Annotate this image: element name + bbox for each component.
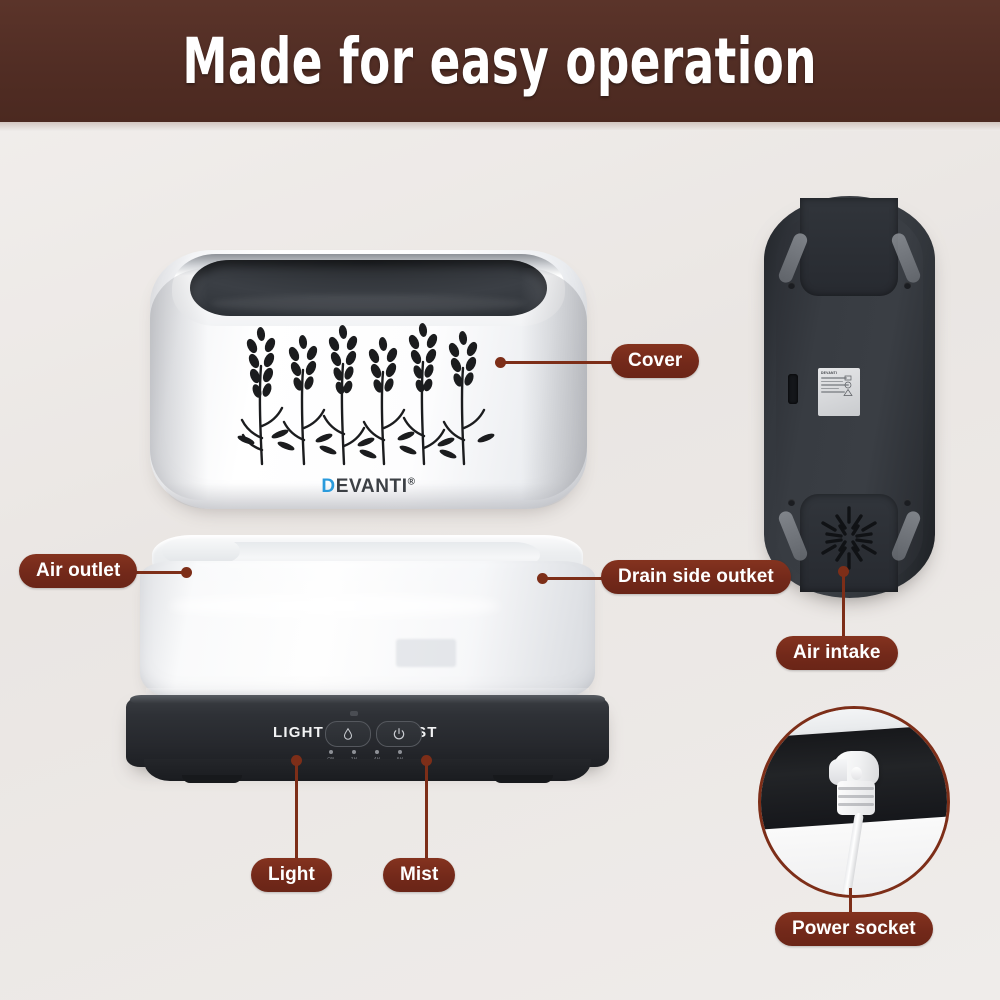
base-foot-right [493,775,553,783]
registered-trademark-icon: ® [408,477,416,488]
tank-air-outlet-notch [162,539,240,563]
callout-label-air-outlet[interactable]: Air outlet [19,554,137,588]
screw-hole-3 [788,499,795,506]
timer-led-6h [398,750,402,754]
callout-line-air-intake [842,571,845,637]
callout-label-cover[interactable]: Cover [611,344,699,378]
timer-led-on [329,750,333,754]
base-foot-left [182,775,242,783]
infographic-canvas: Made for easy operation [0,0,1000,1000]
rating-label-sticker: DEVANTI [818,368,860,416]
power-button[interactable] [376,721,422,747]
product-base: LIGHT MIST ON [126,695,609,783]
power-socket-inset [758,706,950,898]
cover-opening [190,260,547,316]
tank-internal-part [396,639,456,667]
timer-led-4h [375,750,379,754]
air-intake-vent-icon [813,502,885,574]
callout-label-light[interactable]: Light [251,858,332,892]
callout-line-light [295,760,298,860]
mist-button[interactable] [325,721,371,747]
bottom-recess-top [800,198,898,296]
sticker-text-line [821,388,839,390]
base-top-edge [130,695,605,704]
page-title: Made for easy operation [183,30,818,93]
drain-slot [788,374,798,404]
control-light-label: LIGHT [273,724,324,741]
tank-shell [140,561,595,699]
screw-hole-4 [904,499,911,506]
banner-divider [0,122,1000,131]
brand-logo: DEVANTI® [150,476,587,498]
power-icon [392,727,406,741]
plug-bump [851,767,862,780]
callout-label-power-socket[interactable]: Power socket [775,912,933,946]
plug-rib [838,787,874,790]
certification-marks-icon [843,374,857,396]
brand-logo-initial: D [321,476,335,497]
callout-line-cover [500,361,612,364]
callout-label-air-intake[interactable]: Air intake [776,636,898,670]
sticker-text-line [821,381,843,383]
base-shell: LIGHT MIST ON [126,695,609,767]
plug-rib [838,803,874,806]
callout-label-mist[interactable]: Mist [383,858,455,892]
product-cover: DEVANTI® [150,250,587,509]
water-drop-icon [341,727,355,741]
timer-led-2h [352,750,356,754]
lavender-pattern-icon [228,314,508,472]
callout-line-mist [425,760,428,860]
brand-logo-text: EVANTI [336,476,408,497]
status-led [350,711,358,716]
product-bottom-view: DEVANTI [764,196,935,598]
callout-label-drain-side-outket[interactable]: Drain side outket [601,560,791,594]
screw-hole-2 [904,282,911,289]
header-banner: Made for easy operation [0,0,1000,122]
product-water-tank [140,535,595,710]
callout-line-power-socket [849,888,852,912]
tank-highlight [170,595,500,617]
cover-shadow-right [521,268,587,500]
power-plug-icon [829,751,879,819]
cover-shadow-left [150,268,208,500]
plug-rib [838,795,874,798]
sticker-text-line [821,391,845,393]
screw-hole-1 [788,282,795,289]
